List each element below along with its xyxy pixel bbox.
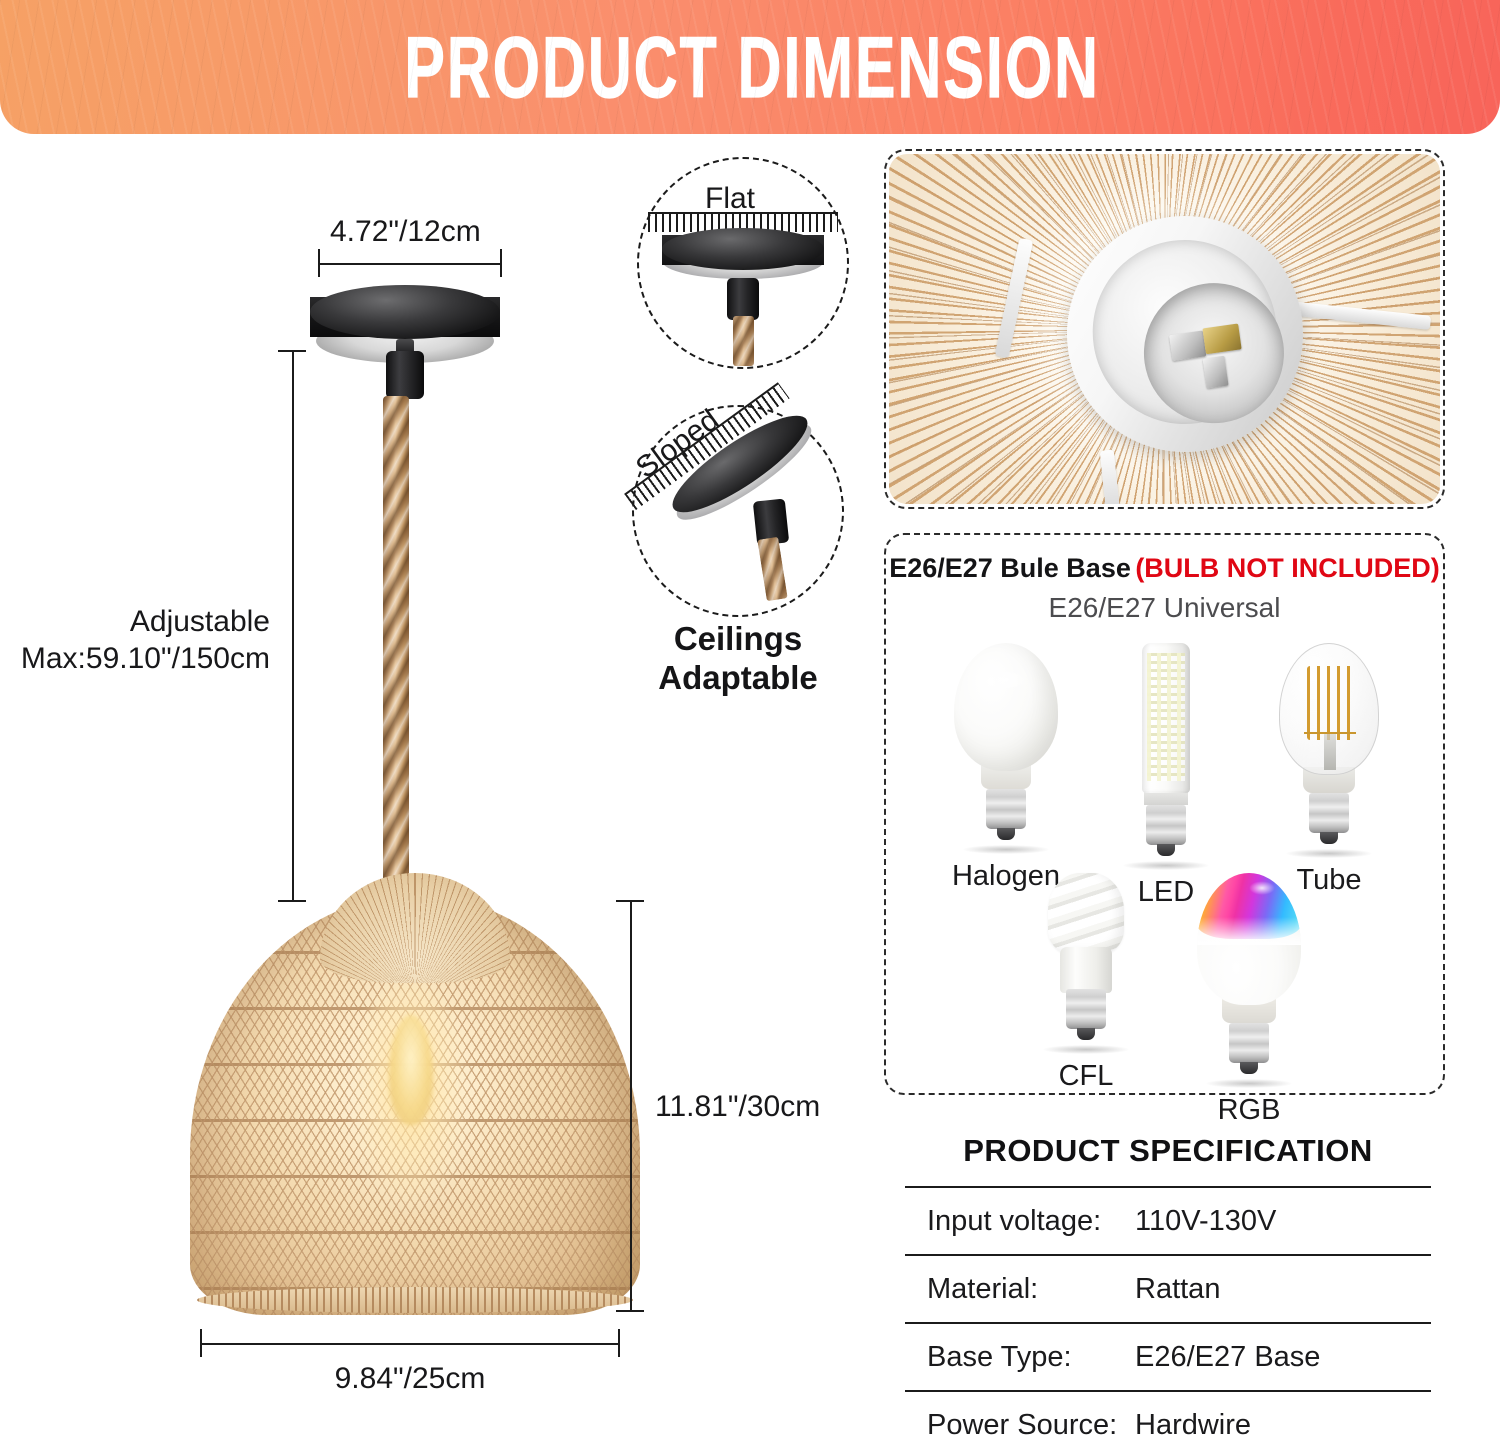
canopy-width-dimension-line bbox=[318, 263, 502, 265]
spec-row-power-source: Power Source: Hardwire bbox=[905, 1392, 1431, 1452]
ceiling-canopy bbox=[310, 275, 500, 405]
adjustable-label-line1: Adjustable bbox=[20, 605, 270, 639]
rgb-bulb-label: RGB bbox=[1174, 1094, 1324, 1127]
spec-value-base-type: E26/E27 Base bbox=[1135, 1341, 1320, 1374]
rattan-lamp-shade bbox=[190, 895, 640, 1315]
shade-height-tick-top bbox=[616, 900, 644, 902]
tube-bulb-glass bbox=[1279, 643, 1379, 775]
tube-bulb-stem bbox=[1324, 734, 1336, 770]
flat-canopy-collar bbox=[727, 278, 759, 320]
canopy-width-tick-right bbox=[500, 249, 502, 277]
socket-contact-brass bbox=[1202, 324, 1241, 355]
flat-rope bbox=[733, 316, 754, 366]
shade-bottom-rim bbox=[197, 1287, 633, 1313]
socket-contact-silver bbox=[1169, 331, 1206, 361]
flat-canopy-disc bbox=[662, 228, 824, 270]
led-bulb-shadow bbox=[1123, 861, 1209, 870]
spec-row-material: Material: Rattan bbox=[905, 1256, 1431, 1322]
canopy-collar bbox=[386, 351, 424, 399]
page-title-text: PRODUCT DIMENSION bbox=[404, 17, 1100, 116]
bulb-panel-subtitle: E26/E27 Universal bbox=[886, 592, 1443, 624]
shade-top-cone bbox=[320, 873, 510, 983]
halogen-bulb-shadow bbox=[963, 845, 1049, 854]
ceilings-adaptable-caption: Ceilings Adaptable bbox=[620, 620, 856, 698]
canopy-width-tick-left bbox=[318, 249, 320, 277]
page-title: PRODUCT DIMENSION bbox=[0, 25, 1500, 110]
cfl-bulb-label: CFL bbox=[1011, 1060, 1161, 1093]
socket-photo bbox=[889, 154, 1440, 504]
socket-photo-panel bbox=[884, 149, 1445, 509]
shade-height-label: 11.81"/30cm bbox=[655, 1090, 820, 1124]
tube-bulb-screw-base bbox=[1309, 793, 1349, 833]
spec-key-input-voltage: Input voltage: bbox=[905, 1205, 1135, 1238]
spec-row-input-voltage: Input voltage: 110V-130V bbox=[905, 1188, 1431, 1254]
cfl-bulb-body bbox=[1060, 947, 1112, 993]
tube-bulb-shadow bbox=[1286, 849, 1372, 858]
hemp-rope-cord bbox=[383, 396, 409, 916]
canopy-top-disc bbox=[310, 285, 500, 339]
shade-width-dimension-line bbox=[200, 1343, 620, 1345]
cfl-bulb-screw-base bbox=[1066, 989, 1106, 1029]
led-bulb-neck bbox=[1144, 791, 1188, 805]
flat-ceiling-label: Flat bbox=[705, 182, 755, 216]
ceilings-caption-line2: Adaptable bbox=[620, 659, 856, 698]
tube-bulb-filament bbox=[1307, 666, 1353, 740]
bulb-item-rgb: RGB bbox=[1174, 873, 1324, 1127]
bulb-item-cfl: CFL bbox=[1011, 873, 1161, 1093]
socket-contact-tab bbox=[1203, 356, 1229, 389]
product-dimension-infographic: PRODUCT DIMENSION 4.72"/12cm Adjustable … bbox=[0, 0, 1500, 1452]
bulb-base-panel: E26/E27 Bule Base (BULB NOT INCLUDED) E2… bbox=[884, 533, 1445, 1095]
bulb-panel-title-black: E26/E27 Bule Base bbox=[889, 553, 1131, 583]
halogen-bulb-glass bbox=[954, 643, 1058, 771]
cfl-bulb-spiral bbox=[1048, 873, 1124, 955]
spec-table: Input voltage: 110V-130V Material: Ratta… bbox=[905, 1186, 1431, 1452]
spec-key-power-source: Power Source: bbox=[905, 1409, 1135, 1442]
spec-row-base-type: Base Type: E26/E27 Base bbox=[905, 1324, 1431, 1390]
socket-threaded-interior bbox=[1135, 274, 1293, 432]
shade-width-tick-right bbox=[618, 1329, 620, 1357]
ceilings-caption-line1: Ceilings bbox=[620, 620, 856, 659]
socket-outer-ring bbox=[1081, 228, 1289, 436]
canopy-width-label: 4.72"/12cm bbox=[330, 215, 481, 249]
bulb-panel-title-red: (BULB NOT INCLUDED) bbox=[1135, 553, 1439, 583]
spec-value-power-source: Hardwire bbox=[1135, 1409, 1251, 1442]
spec-key-material: Material: bbox=[905, 1273, 1135, 1306]
spec-value-input-voltage: 110V-130V bbox=[1135, 1205, 1276, 1238]
rgb-bulb-shadow bbox=[1206, 1079, 1292, 1088]
spec-table-title: PRODUCT SPECIFICATION bbox=[905, 1133, 1431, 1169]
led-bulb-glass bbox=[1142, 643, 1190, 793]
shade-height-dimension-line bbox=[630, 900, 632, 1312]
rgb-bulb-glass bbox=[1197, 873, 1301, 1005]
bulb-item-led: LED bbox=[1091, 643, 1241, 909]
spec-value-material: Rattan bbox=[1135, 1273, 1220, 1306]
shade-width-label: 9.84"/25cm bbox=[200, 1362, 620, 1396]
shade-width-tick-left bbox=[200, 1329, 202, 1357]
bulb-panel-title: E26/E27 Bule Base (BULB NOT INCLUDED) bbox=[886, 553, 1443, 584]
adjustable-dimension-line bbox=[292, 350, 294, 902]
spec-key-base-type: Base Type: bbox=[905, 1341, 1135, 1374]
header-banner: PRODUCT DIMENSION bbox=[0, 0, 1500, 134]
rgb-bulb-blend bbox=[1197, 917, 1301, 945]
bulb-item-tube: Tube bbox=[1254, 643, 1404, 897]
cfl-bulb-shadow bbox=[1043, 1045, 1129, 1054]
cfl-bulb-glass bbox=[1034, 873, 1138, 989]
led-bulb-screw-base bbox=[1146, 805, 1186, 845]
shade-height-tick-bottom bbox=[616, 1310, 644, 1312]
adjustable-label-line2: Max:59.10"/150cm bbox=[20, 642, 270, 676]
bulb-item-halogen: Halogen bbox=[931, 643, 1081, 893]
adjustable-tick-top bbox=[278, 350, 306, 352]
halogen-bulb-screw-base bbox=[986, 789, 1026, 829]
rgb-bulb-screw-base bbox=[1229, 1023, 1269, 1063]
